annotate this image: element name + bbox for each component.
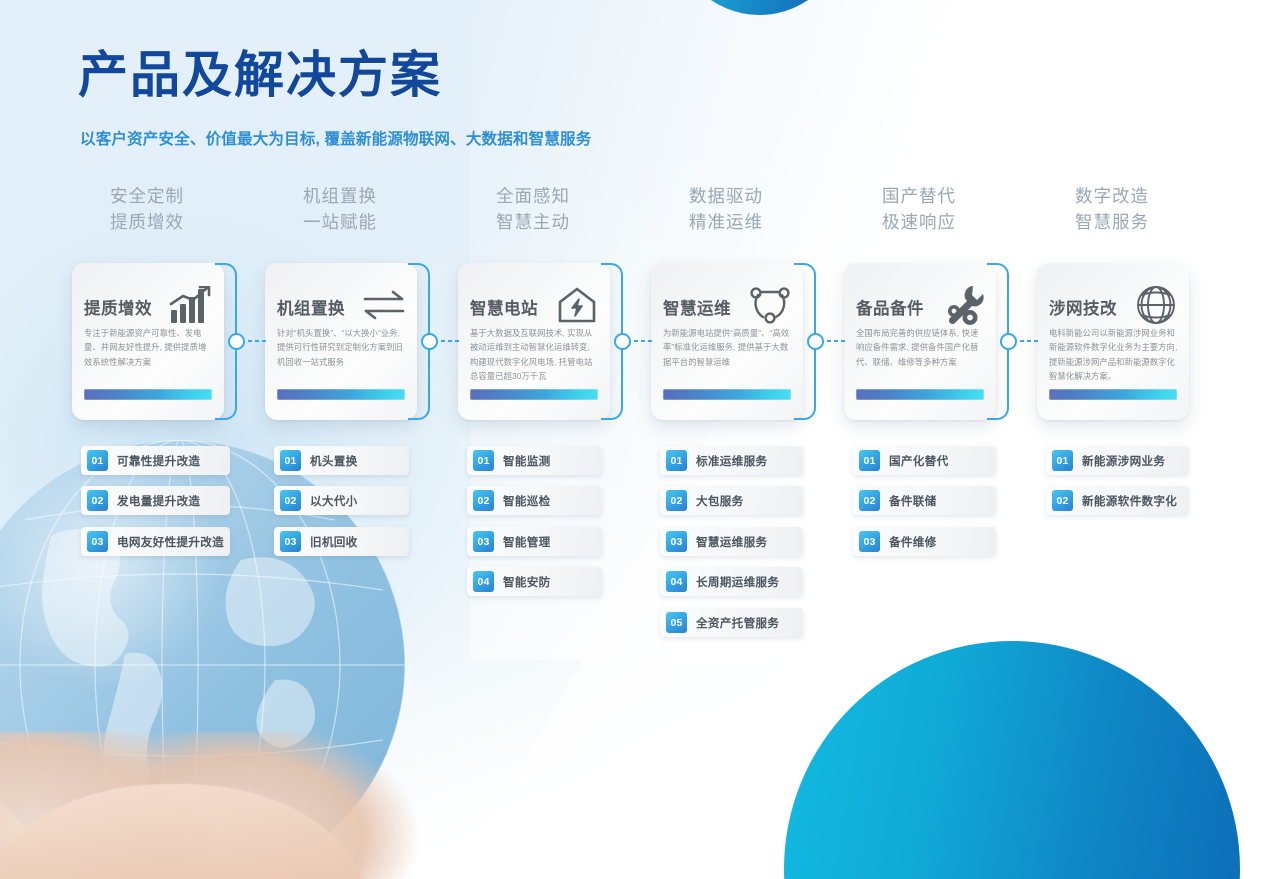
card-body-text: 为新能源电站提供“高质量”、“高效率”标准化运维服务, 提供基于大数据平台的智慧… — [663, 326, 792, 369]
card-4[interactable]: 备品备件 全国布局完善的供应链体系, 快速响应备件需求, 提供备件国产化替代、联… — [844, 263, 996, 420]
list-item-number: 04 — [473, 571, 494, 592]
list-item-number: 03 — [280, 531, 301, 552]
card-1[interactable]: 机组置换 针对“机头置换”、“以大换小”业务, 提供可行性研究到定制化方案到旧机… — [265, 263, 417, 420]
card-body-text: 针对“机头置换”、“以大换小”业务, 提供可行性研究到定制化方案到旧机回收一站式… — [277, 326, 406, 369]
list-item-label: 智能管理 — [503, 534, 551, 550]
column-header-4: 国产替代 极速响应 — [843, 183, 995, 235]
list-item-number: 02 — [1052, 490, 1073, 511]
card-body-text: 全国布局完善的供应链体系, 快速响应备件需求, 提供备件国产化替代、联储、维修等… — [856, 326, 985, 369]
card-title: 涉网技改 — [1049, 295, 1117, 319]
list-item[interactable]: 03 旧机回收 — [274, 527, 409, 556]
list-item-number: 05 — [666, 612, 687, 633]
connector-dashed-line — [827, 340, 845, 342]
card-body-text: 基于大数据及互联网技术, 实现从被动运维到主动智慧化运维转变, 构建现代数字化风… — [470, 326, 599, 384]
list-item[interactable]: 04 智能安防 — [467, 567, 602, 596]
page-content: 产品及解决方案 以客户资产安全、价值最大为目标, 覆盖新能源物联网、大数据和智慧… — [0, 0, 1268, 879]
column-header-3: 数据驱动 精准运维 — [650, 183, 802, 235]
connector-node-icon — [1000, 333, 1017, 350]
list-item[interactable]: 03 智慧运维服务 — [660, 527, 803, 556]
card-accent-bar — [84, 389, 212, 400]
list-item-number: 03 — [666, 531, 687, 552]
page-subtitle: 以客户资产安全、价值最大为目标, 覆盖新能源物联网、大数据和智慧服务 — [80, 127, 591, 149]
list-item-number: 03 — [859, 531, 880, 552]
list-item[interactable]: 03 电网友好性提升改造 — [81, 527, 230, 556]
list-item-number: 02 — [473, 490, 494, 511]
card-3[interactable]: 智慧运维 为新能源电站提供“高质量”、“高效率”标准化运维服务, 提供基于大数据… — [651, 263, 803, 420]
list-item-number: 04 — [666, 571, 687, 592]
list-item[interactable]: 01 国产化替代 — [853, 446, 996, 475]
list-item-label: 新能源涉网业务 — [1082, 453, 1165, 469]
bar-chart-growth-icon — [168, 285, 214, 325]
list-item[interactable]: 02 发电量提升改造 — [81, 486, 230, 515]
network-nodes-icon — [747, 285, 793, 325]
column-header-line2: 一站赋能 — [264, 209, 416, 235]
column-header-line1: 数据驱动 — [689, 186, 763, 206]
list-item-number: 01 — [473, 450, 494, 471]
card-title: 智慧电站 — [470, 295, 538, 319]
list-item-number: 01 — [1052, 450, 1073, 471]
column-header-line2: 精准运维 — [650, 209, 802, 235]
column-header-0: 安全定制 提质增效 — [71, 183, 223, 235]
list-item-number: 01 — [280, 450, 301, 471]
column-header-5: 数字改造 智慧服务 — [1036, 183, 1188, 235]
list-item[interactable]: 01 智能监测 — [467, 446, 602, 475]
connector-dashed-line — [441, 340, 459, 342]
list-item-label: 可靠性提升改造 — [117, 453, 200, 469]
connector-node-icon — [807, 333, 824, 350]
list-item-label: 标准运维服务 — [696, 453, 767, 469]
list-item-label: 全资产托管服务 — [696, 615, 779, 631]
card-accent-bar — [1049, 389, 1177, 400]
list-item-label: 旧机回收 — [310, 534, 358, 550]
list-item-label: 国产化替代 — [889, 453, 948, 469]
list-item[interactable]: 01 可靠性提升改造 — [81, 446, 230, 475]
column-header-line1: 安全定制 — [110, 186, 184, 206]
card-0[interactable]: 提质增效 专注于新能源资产可靠性、发电量、并网友好性提升, 提供提质增效系统性解… — [72, 263, 224, 420]
wrench-gear-icon — [940, 285, 986, 325]
column-header-line1: 全面感知 — [496, 186, 570, 206]
connector-dashed-line — [248, 340, 266, 342]
list-item-label: 智慧运维服务 — [696, 534, 767, 550]
list-item-label: 备件联储 — [889, 493, 937, 509]
list-item-number: 01 — [87, 450, 108, 471]
column-header-line1: 机组置换 — [303, 186, 377, 206]
column-header-line2: 提质增效 — [71, 209, 223, 235]
list-item[interactable]: 01 标准运维服务 — [660, 446, 803, 475]
list-item[interactable]: 03 备件维修 — [853, 527, 996, 556]
list-item-number: 03 — [87, 531, 108, 552]
card-5[interactable]: 涉网技改 电科新能公司以新能源涉网业务和新能源软件数字化业务为主要方向, 提新能… — [1037, 263, 1189, 420]
column-header-2: 全面感知 智慧主动 — [457, 183, 609, 235]
card-accent-bar — [470, 389, 598, 400]
card-accent-bar — [856, 389, 984, 400]
list-item-number: 03 — [473, 531, 494, 552]
list-item-label: 新能源软件数字化 — [1082, 493, 1177, 509]
list-item[interactable]: 02 智能巡检 — [467, 486, 602, 515]
column-header-line2: 智慧服务 — [1036, 209, 1188, 235]
list-item-number: 02 — [280, 490, 301, 511]
list-item-number: 02 — [87, 490, 108, 511]
globe-grid-icon — [1133, 285, 1179, 325]
list-item[interactable]: 02 新能源软件数字化 — [1046, 486, 1189, 515]
card-accent-bar — [663, 389, 791, 400]
list-item[interactable]: 02 以大代小 — [274, 486, 409, 515]
list-item[interactable]: 03 智能管理 — [467, 527, 602, 556]
list-item-number: 02 — [859, 490, 880, 511]
list-item-label: 智能监测 — [503, 453, 551, 469]
list-item[interactable]: 02 大包服务 — [660, 486, 803, 515]
card-accent-bar — [277, 389, 405, 400]
connector-dashed-line — [1020, 340, 1038, 342]
column-header-line1: 数字改造 — [1075, 186, 1149, 206]
column-header-line2: 智慧主动 — [457, 209, 609, 235]
column-header-line2: 极速响应 — [843, 209, 995, 235]
connector-dashed-line — [634, 340, 652, 342]
card-title: 备品备件 — [856, 295, 924, 319]
list-item-number: 01 — [666, 450, 687, 471]
list-item-label: 机头置换 — [310, 453, 358, 469]
card-title: 提质增效 — [84, 295, 152, 319]
card-title: 智慧运维 — [663, 295, 731, 319]
list-item-number: 01 — [859, 450, 880, 471]
page-title: 产品及解决方案 — [78, 50, 442, 100]
list-item-label: 大包服务 — [696, 493, 744, 509]
list-item[interactable]: 01 机头置换 — [274, 446, 409, 475]
list-item-number: 02 — [666, 490, 687, 511]
card-2[interactable]: 智慧电站 基于大数据及互联网技术, 实现从被动运维到主动智慧化运维转变, 构建现… — [458, 263, 610, 420]
list-item-label: 智能安防 — [503, 574, 551, 590]
connector-node-icon — [614, 333, 631, 350]
list-item-label: 以大代小 — [310, 493, 358, 509]
exchange-arrows-icon — [361, 285, 407, 325]
house-lightning-icon — [554, 285, 600, 325]
card-body-text: 电科新能公司以新能源涉网业务和新能源软件数字化业务为主要方向, 提新能源涉网产品… — [1049, 326, 1178, 384]
list-item-label: 电网友好性提升改造 — [117, 534, 224, 550]
card-title: 机组置换 — [277, 295, 345, 319]
list-item[interactable]: 04 长周期运维服务 — [660, 567, 803, 596]
list-item-label: 备件维修 — [889, 534, 937, 550]
list-item[interactable]: 05 全资产托管服务 — [660, 608, 803, 637]
connector-node-icon — [421, 333, 438, 350]
column-header-1: 机组置换 一站赋能 — [264, 183, 416, 235]
list-item[interactable]: 02 备件联储 — [853, 486, 996, 515]
connector-node-icon — [228, 333, 245, 350]
list-item-label: 长周期运维服务 — [696, 574, 779, 590]
card-body-text: 专注于新能源资产可靠性、发电量、并网友好性提升, 提供提质增效系统性解决方案 — [84, 326, 213, 369]
list-item[interactable]: 01 新能源涉网业务 — [1046, 446, 1189, 475]
list-item-label: 发电量提升改造 — [117, 493, 200, 509]
list-item-label: 智能巡检 — [503, 493, 551, 509]
column-header-line1: 国产替代 — [882, 186, 956, 206]
